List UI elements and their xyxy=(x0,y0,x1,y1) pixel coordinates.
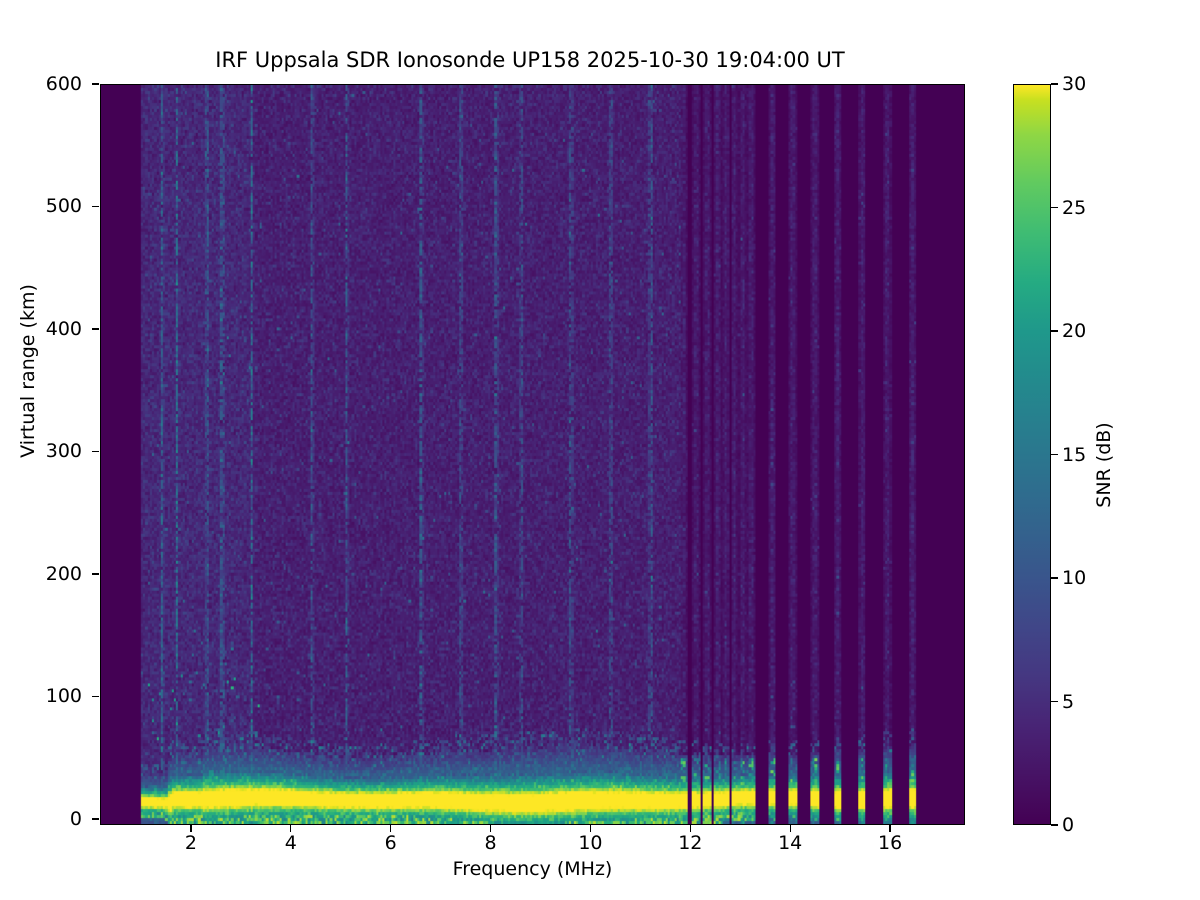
title-line-1: IRF Uppsala SDR Ionosonde UP158 2025-10-… xyxy=(0,47,1060,74)
colorbar-tick-label: 0 xyxy=(1062,814,1074,836)
x-tick-label: 12 xyxy=(678,832,702,854)
ionogram-plot-area xyxy=(100,84,965,825)
x-tick-mark xyxy=(190,825,191,832)
ionogram-heatmap xyxy=(101,85,964,824)
y-tick-label: 0 xyxy=(22,808,82,830)
y-tick-mark xyxy=(92,206,99,207)
colorbar-tick-label: 15 xyxy=(1062,444,1086,466)
y-tick-label: 600 xyxy=(22,73,82,95)
colorbar-tick-mark xyxy=(1051,824,1058,825)
y-tick-label: 400 xyxy=(22,318,82,340)
y-tick-mark xyxy=(92,573,99,574)
y-tick-label: 300 xyxy=(22,440,82,462)
y-tick-label: 500 xyxy=(22,195,82,217)
colorbar-tick-mark xyxy=(1051,83,1058,84)
colorbar-tick-mark xyxy=(1051,207,1058,208)
x-tick-mark xyxy=(590,825,591,832)
x-tick-label: 16 xyxy=(878,832,902,854)
x-tick-mark xyxy=(690,825,691,832)
y-tick-mark xyxy=(92,451,99,452)
y-tick-mark xyxy=(92,328,99,329)
colorbar-tick-label: 5 xyxy=(1062,691,1074,713)
x-tick-label: 8 xyxy=(485,832,497,854)
y-tick-mark xyxy=(92,696,99,697)
colorbar-tick-mark xyxy=(1051,330,1058,331)
x-tick-label: 4 xyxy=(285,832,297,854)
x-tick-label: 14 xyxy=(778,832,802,854)
x-tick-mark xyxy=(790,825,791,832)
colorbar-tick-label: 30 xyxy=(1062,73,1086,95)
x-tick-mark xyxy=(290,825,291,832)
x-tick-mark xyxy=(889,825,890,832)
x-tick-mark xyxy=(390,825,391,832)
colorbar-tick-label: 25 xyxy=(1062,197,1086,219)
x-tick-mark xyxy=(490,825,491,832)
y-tick-mark xyxy=(92,818,99,819)
y-tick-label: 100 xyxy=(22,685,82,707)
colorbar-tick-label: 20 xyxy=(1062,320,1086,342)
y-tick-mark xyxy=(92,83,99,84)
x-tick-label: 6 xyxy=(385,832,397,854)
x-axis-label: Frequency (MHz) xyxy=(100,858,965,880)
colorbar-tick-mark xyxy=(1051,454,1058,455)
colorbar-tick-mark xyxy=(1051,701,1058,702)
colorbar xyxy=(1013,84,1051,825)
x-tick-label: 2 xyxy=(185,832,197,854)
colorbar-label: SNR (dB) xyxy=(1093,275,1115,655)
colorbar-tick-mark xyxy=(1051,577,1058,578)
y-tick-label: 200 xyxy=(22,563,82,585)
x-tick-label: 10 xyxy=(578,832,602,854)
colorbar-tick-label: 10 xyxy=(1062,567,1086,589)
ionogram-figure: IRF Uppsala SDR Ionosonde UP158 2025-10-… xyxy=(0,0,1200,900)
